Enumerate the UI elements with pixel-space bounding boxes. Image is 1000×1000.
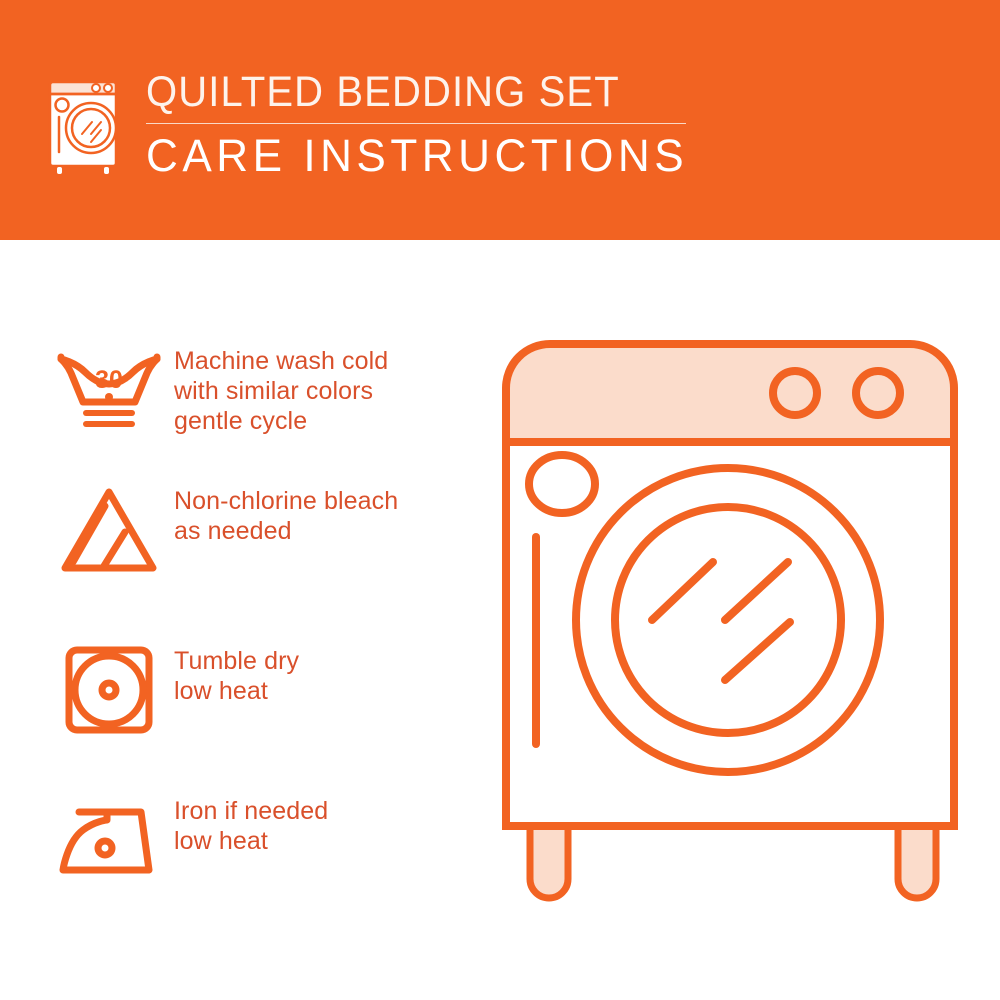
care-row-iron: Iron if needed low heat [44, 790, 484, 886]
header-banner: QUILTED BEDDING SET CARE INSTRUCTIONS [0, 0, 1000, 240]
care-label-iron: Iron if needed low heat [174, 790, 328, 856]
care-instruction-list: 30 Machine wash cold with similar colors… [0, 240, 500, 1000]
page-title-primary: QUILTED BEDDING SET [146, 68, 667, 116]
bleach-line-2 [104, 532, 125, 566]
title-divider [146, 123, 686, 124]
header-title-block: QUILTED BEDDING SET CARE INSTRUCTIONS [146, 68, 706, 182]
care-label-machine-wash: Machine wash cold with similar colors ge… [174, 340, 388, 436]
gentle-bar-2 [83, 421, 135, 427]
care-row-tumble-dry: Tumble dry low heat [44, 640, 484, 736]
wash-temperature-label: 30 [95, 366, 123, 394]
control-knob-left[interactable] [773, 371, 817, 415]
detergent-dispenser[interactable] [529, 455, 595, 513]
page-title-secondary: CARE INSTRUCTIONS [146, 130, 695, 182]
wash-tub-icon: 30 [44, 340, 174, 436]
washing-machine-illustration [480, 330, 980, 950]
iron-icon [44, 790, 174, 886]
tumble-dry-icon [44, 640, 174, 736]
gentle-bar-1 [83, 410, 135, 416]
bleach-triangle-icon [44, 480, 174, 576]
wash-dot-icon [105, 393, 113, 401]
care-row-machine-wash: 30 Machine wash cold with similar colors… [44, 340, 484, 436]
care-label-tumble-dry: Tumble dry low heat [174, 640, 299, 706]
care-row-bleach: Non-chlorine bleach as needed [44, 480, 484, 576]
bleach-line-1 [73, 506, 105, 562]
iron-dot-icon [98, 841, 112, 855]
tumble-dry-dot-icon [102, 683, 116, 697]
control-knob-right[interactable] [856, 371, 900, 415]
care-label-bleach: Non-chlorine bleach as needed [174, 480, 398, 546]
washing-machine-icon [44, 72, 128, 178]
